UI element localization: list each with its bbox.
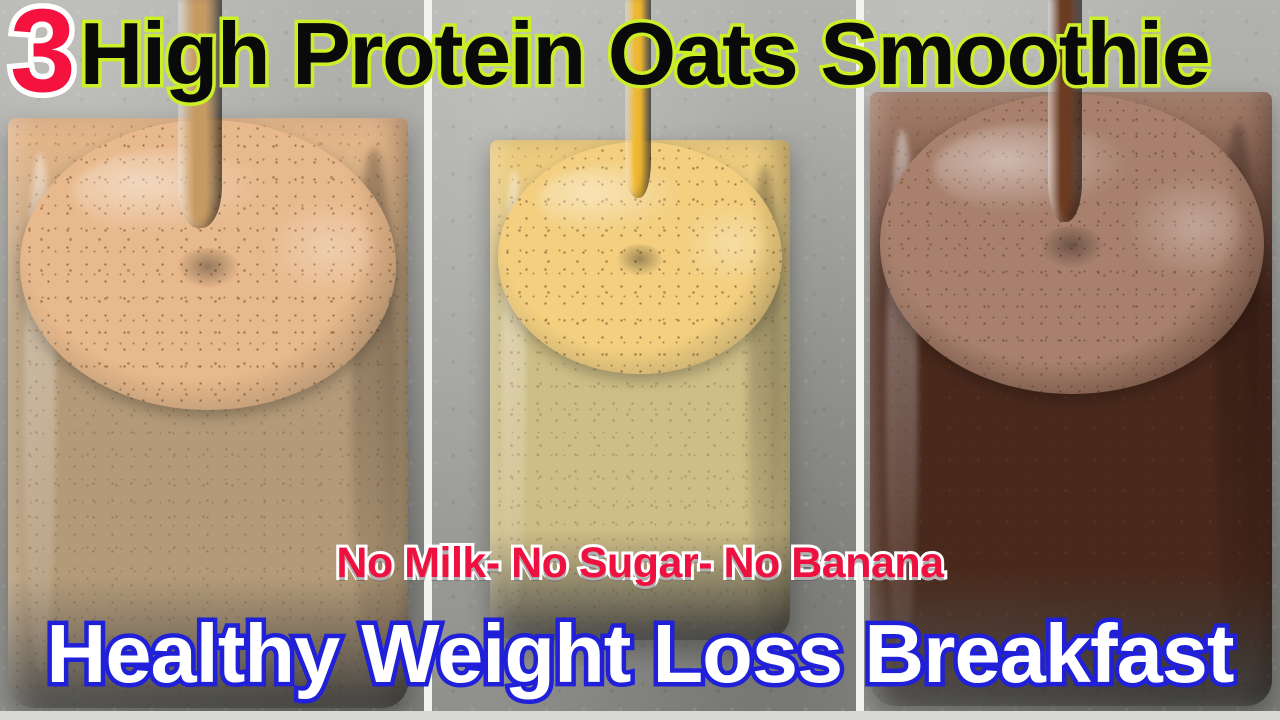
recipe-count-badge: 3 (10, 2, 74, 101)
surface-highlight-2 (538, 165, 686, 235)
title-row: 3 High Protein Oats Smoothie (0, 4, 1280, 108)
bottom-edge-strip (0, 711, 1280, 720)
surface-highlight-1 (73, 149, 269, 236)
pour-dimple-3 (1039, 226, 1104, 268)
surface-highlight-1b (261, 195, 374, 299)
surface-highlight-3 (934, 124, 1134, 214)
surface-highlight-2b (680, 202, 765, 286)
bottom-headline-text: Healthy Weight Loss Breakfast (0, 612, 1280, 695)
headline-text: High Protein Oats Smoothie (80, 12, 1210, 96)
pour-dimple-1 (176, 248, 240, 289)
surface-highlight-3b (1126, 172, 1241, 280)
thumbnail-canvas: 3 High Protein Oats Smoothie No Milk- No… (0, 0, 1280, 720)
subtitle-text: No Milk- No Sugar- No Banana (0, 542, 1280, 585)
